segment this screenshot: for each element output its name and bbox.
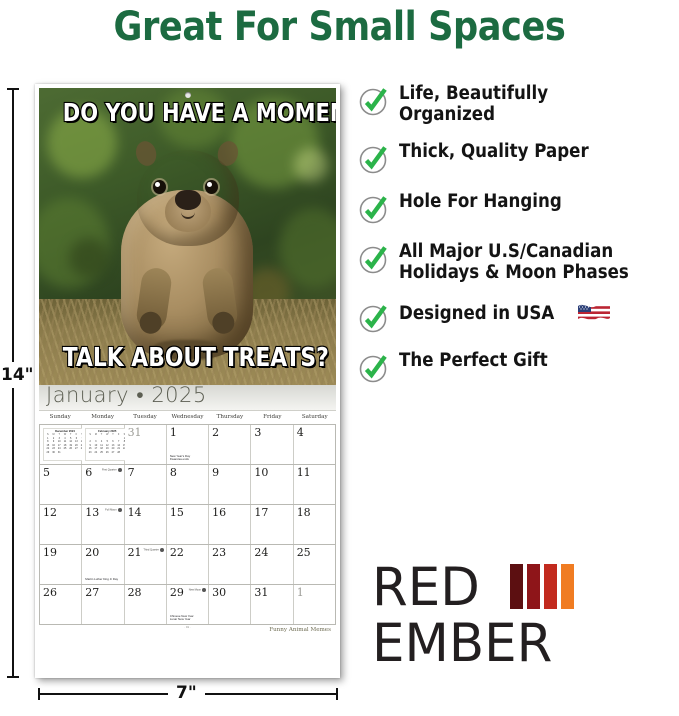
calendar-day-number: 2	[212, 426, 219, 439]
calendar-day-cell[interactable]: 1New Year's Day Kwanzaa ends	[167, 425, 209, 464]
calendar-day-number: 28	[128, 586, 142, 599]
calendar-week-row: 1213Full Moon1415161718	[39, 505, 336, 545]
us-flag-icon	[577, 301, 611, 328]
feature-content: Thick, Quality Paper	[390, 142, 611, 163]
calendar-day-number: 11	[297, 466, 311, 479]
calendar-day-number: 31	[254, 586, 268, 599]
calendar-page-number: · 01 ·	[184, 625, 191, 629]
month-title: January • 2025	[46, 383, 207, 408]
check-circle-icon	[358, 243, 390, 275]
quokka-illustration	[93, 128, 283, 358]
weekday-header-row: SundayMondayTuesdayWednesdayThursdayFrid…	[39, 411, 336, 424]
calendar-week-row: 26272829New MoonChinese New Year Lunar N…	[39, 585, 336, 625]
calendar-day-cell[interactable]: 29New MoonChinese New Year Lunar New Yea…	[167, 585, 209, 624]
meme-text-bottom: TALK ABOUT TREATS?	[63, 343, 312, 373]
logo-text-red: RED	[372, 562, 480, 614]
calendar-day-cell[interactable]: 27	[82, 585, 124, 624]
calendar-day-cell[interactable]: 21Third Quarter	[125, 545, 167, 584]
calendar-event-text: New Year's Day Kwanzaa ends	[170, 455, 206, 462]
calendar-weeks: December 2024SMTWTFS12345678910111213141…	[39, 424, 336, 625]
check-circle-icon	[358, 352, 390, 384]
mini-calendar: December 2024SMTWTFS12345678910111213141…	[43, 428, 87, 461]
calendar-day-number: 18	[297, 506, 311, 519]
product-infographic: Great For Small Spaces 14" 7"	[0, 0, 679, 716]
calendar-day-number: 8	[170, 466, 177, 479]
logo-line-2-row: EMBER	[372, 618, 602, 670]
weekday-header-tuesday: Tuesday	[124, 411, 166, 424]
calendar-week-row: 1920Martin Luther King Jr Day21Third Qua…	[39, 545, 336, 585]
weekday-header-saturday: Saturday	[294, 411, 336, 424]
feature-label: All Major U.S/Canadian Holidays & Moon P…	[390, 242, 629, 283]
calendar-day-cell[interactable]: 4	[294, 425, 336, 464]
moon-phase-icon: First Quarter	[92, 468, 122, 473]
us-flag-icon	[577, 301, 611, 323]
moon-phase-icon: Full Moon	[92, 508, 122, 513]
weekday-header-thursday: Thursday	[209, 411, 251, 424]
calendar-event-text: Martin Luther King Jr Day	[85, 578, 121, 582]
moon-phase-icon: New Moon	[176, 588, 206, 593]
calendar-day-number: 1	[297, 586, 304, 599]
meme-photo-panel: DO YOU HAVE A MOMENT TO TALK ABOUT TREAT…	[39, 88, 336, 385]
check-circle-icon	[358, 85, 390, 117]
check-circle-icon	[358, 193, 390, 225]
calendar-day-number: 7	[128, 466, 135, 479]
calendar-day-cell[interactable]: 5	[39, 465, 82, 504]
calendar-day-cell[interactable]: 17	[251, 505, 293, 544]
feature-item-4: All Major U.S/Canadian Holidays & Moon P…	[358, 242, 676, 283]
calendar-day-cell[interactable]: 26	[39, 585, 82, 624]
weekday-header-friday: Friday	[251, 411, 293, 424]
calendar-product-image: DO YOU HAVE A MOMENT TO TALK ABOUT TREAT…	[35, 84, 340, 678]
calendar-day-number: 9	[212, 466, 219, 479]
calendar-day-number: 19	[43, 546, 57, 559]
calendar-day-cell[interactable]: 30	[209, 585, 251, 624]
weekday-header-monday: Monday	[81, 411, 123, 424]
calendar-day-cell[interactable]: 31	[251, 585, 293, 624]
brand-logo: RED EMBER	[372, 562, 602, 670]
calendar-day-number: 14	[128, 506, 142, 519]
feature-label: Life, Beautifully Organized	[390, 84, 647, 125]
calendar-day-cell[interactable]: 3	[251, 425, 293, 464]
logo-bar-1	[510, 564, 523, 609]
height-dimension-label: 14"	[0, 362, 35, 388]
mini-calendar: February 2025SMTWTFS12345678910111213141…	[85, 428, 129, 461]
feature-content: The Perfect Gift	[390, 351, 565, 372]
calendar-day-cell[interactable]: February 2025SMTWTFS12345678910111213141…	[82, 425, 124, 464]
calendar-day-number: 15	[170, 506, 184, 519]
logo-bar-2	[527, 564, 540, 609]
feature-label: Designed in USA	[390, 304, 554, 325]
feature-item-6: The Perfect Gift	[358, 351, 676, 384]
calendar-credit: Funny Animal Memes	[269, 627, 331, 633]
logo-bar-4	[561, 564, 574, 609]
calendar-day-number: 4	[297, 426, 304, 439]
feature-item-2: Thick, Quality Paper	[358, 142, 676, 175]
weekday-header-wednesday: Wednesday	[166, 411, 208, 424]
feature-content: Designed in USA	[390, 301, 611, 328]
month-header-bar: January • 2025	[39, 385, 336, 411]
feature-list: Life, Beautifully Organized Thick, Quali…	[358, 84, 676, 401]
check-circle-icon	[358, 143, 390, 175]
feature-label: Thick, Quality Paper	[390, 142, 589, 163]
calendar-day-number: 12	[43, 506, 57, 519]
check-circle-icon	[358, 352, 390, 384]
check-circle-icon	[358, 193, 390, 225]
calendar-day-number: 22	[170, 546, 184, 559]
calendar-day-cell[interactable]: 10	[251, 465, 293, 504]
feature-label: Hole For Hanging	[390, 192, 562, 213]
calendar-day-number: 31	[128, 426, 142, 439]
calendar-week-row: 56First Quarter7891011	[39, 465, 336, 505]
calendar-day-cell[interactable]: 31	[125, 425, 167, 464]
check-circle-icon	[358, 143, 390, 175]
calendar-day-cell[interactable]: 24	[251, 545, 293, 584]
calendar-day-cell[interactable]: 25	[294, 545, 336, 584]
calendar-footer: · 01 · Funny Animal Memes	[39, 625, 336, 641]
check-circle-icon	[358, 302, 390, 334]
calendar-day-cell[interactable]: 23	[209, 545, 251, 584]
calendar-day-cell[interactable]: 14	[125, 505, 167, 544]
logo-text-ember: EMBER	[372, 618, 595, 670]
calendar-day-cell[interactable]: 16	[209, 505, 251, 544]
check-circle-icon	[358, 85, 390, 117]
calendar-day-number: 16	[212, 506, 226, 519]
meme-text-top: DO YOU HAVE A MOMENT TO	[63, 98, 312, 127]
calendar-day-cell[interactable]: 13Full Moon	[82, 505, 124, 544]
weekday-header-sunday: Sunday	[39, 411, 81, 424]
feature-item-1: Life, Beautifully Organized	[358, 84, 676, 125]
feature-content: All Major U.S/Canadian Holidays & Moon P…	[390, 242, 655, 283]
width-dimension-label: 7"	[168, 682, 205, 704]
calendar-day-cell[interactable]: 12	[39, 505, 82, 544]
calendar-day-number: 24	[254, 546, 268, 559]
calendar-day-number: 10	[254, 466, 268, 479]
logo-bar-3	[544, 564, 557, 609]
calendar-day-number: 17	[254, 506, 268, 519]
calendar-day-cell[interactable]: 18	[294, 505, 336, 544]
moon-phase-icon: Third Quarter	[134, 548, 164, 553]
feature-item-5: Designed in USA	[358, 301, 676, 334]
calendar-day-cell[interactable]: 20Martin Luther King Jr Day	[82, 545, 124, 584]
calendar-day-number: 5	[43, 466, 50, 479]
calendar-day-number: 23	[212, 546, 226, 559]
calendar-day-number: 27	[85, 586, 99, 599]
calendar-day-cell[interactable]: 15	[167, 505, 209, 544]
calendar-day-cell[interactable]: December 2024SMTWTFS12345678910111213141…	[39, 425, 82, 464]
calendar-day-number: 1	[170, 426, 177, 439]
calendar-day-number: 26	[43, 586, 57, 599]
calendar-day-number: 20	[85, 546, 99, 559]
calendar-day-cell[interactable]: 7	[125, 465, 167, 504]
page-title: Great For Small Spaces	[41, 4, 639, 50]
calendar-day-cell[interactable]: 1	[294, 585, 336, 624]
calendar-day-cell[interactable]: 11	[294, 465, 336, 504]
feature-item-3: Hole For Hanging	[358, 192, 676, 225]
calendar-day-cell[interactable]: 2	[209, 425, 251, 464]
check-circle-icon	[358, 302, 390, 334]
calendar-week-row: December 2024SMTWTFS12345678910111213141…	[39, 425, 336, 465]
feature-label: The Perfect Gift	[390, 351, 548, 372]
calendar-grid-page: January • 2025 SundayMondayTuesdayWednes…	[39, 385, 336, 674]
calendar-day-number: 3	[254, 426, 261, 439]
feature-content: Hole For Hanging	[390, 192, 581, 213]
calendar-day-cell[interactable]: 19	[39, 545, 82, 584]
calendar-day-cell[interactable]: 28	[125, 585, 167, 624]
calendar-day-cell[interactable]: 6First Quarter	[82, 465, 124, 504]
check-circle-icon	[358, 243, 390, 275]
calendar-day-cell[interactable]: 9	[209, 465, 251, 504]
calendar-day-number: 25	[297, 546, 311, 559]
calendar-event-text: Chinese New Year Lunar New Year	[170, 615, 206, 622]
calendar-day-cell[interactable]: 22	[167, 545, 209, 584]
logo-ember-bars	[510, 564, 574, 609]
logo-line-1-row: RED	[372, 562, 602, 614]
calendar-day-number: 30	[212, 586, 226, 599]
feature-content: Life, Beautifully Organized	[390, 84, 676, 125]
calendar-day-cell[interactable]: 8	[167, 465, 209, 504]
